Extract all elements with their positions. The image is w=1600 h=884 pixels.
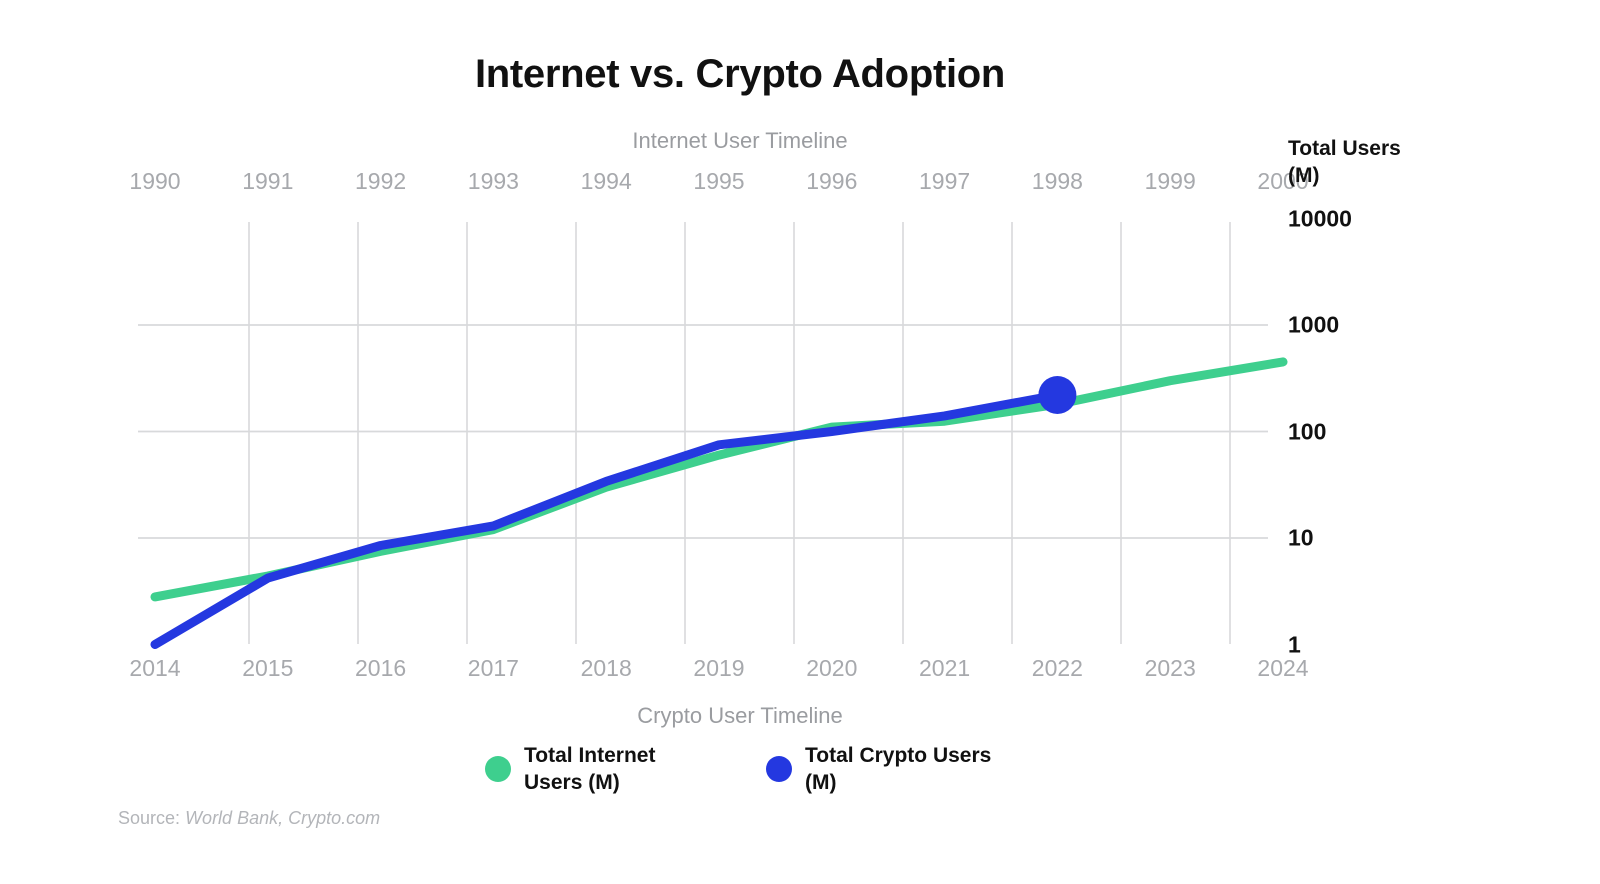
vertical-gridlines [249,222,1230,644]
y-axis-title-line-2: (M) [1288,163,1468,190]
y-tick-100: 100 [1288,418,1326,445]
bottom-tick-2018: 2018 [581,655,632,682]
y-tick-1: 1 [1288,631,1301,658]
legend-label-crypto: Total Crypto Users (M) [805,742,995,797]
legend-swatch-crypto-icon [766,756,792,782]
source-prefix: Source: [118,808,180,828]
legend-swatch-internet-icon [485,756,511,782]
legend-label-internet: Total Internet Users (M) [524,742,714,797]
bottom-tick-2019: 2019 [693,655,744,682]
horizontal-gridlines [138,325,1268,538]
y-axis-title-line-1: Total Users [1288,136,1468,163]
bottom-tick-2014: 2014 [129,655,180,682]
bottom-tick-2016: 2016 [355,655,406,682]
source-text: World Bank, Crypto.com [185,808,380,828]
legend-item-internet[interactable]: Total Internet Users (M) [485,742,714,797]
chart-legend: Total Internet Users (M)Total Crypto Use… [0,742,1480,797]
y-axis-title: Total Users(M) [1288,136,1468,190]
bottom-axis-caption: Crypto User Timeline [0,703,1480,729]
series-markers [1038,376,1076,414]
bottom-tick-2024: 2024 [1257,655,1308,682]
series-lines [155,362,1283,645]
bottom-tick-2022: 2022 [1032,655,1083,682]
y-tick-10000: 10000 [1288,205,1352,232]
bottom-axis-tick-row: 2014201520162017201820192020202120222023… [0,655,1600,687]
source-note: Source: World Bank, Crypto.com [118,808,380,829]
bottom-tick-2023: 2023 [1145,655,1196,682]
bottom-tick-2017: 2017 [468,655,519,682]
bottom-tick-2020: 2020 [806,655,857,682]
bottom-tick-2021: 2021 [919,655,970,682]
series-endpoint-marker-crypto [1038,376,1076,414]
chart-figure: Internet vs. Crypto Adoption Internet Us… [0,0,1600,884]
bottom-tick-2015: 2015 [242,655,293,682]
y-tick-10: 10 [1288,525,1314,552]
legend-item-crypto[interactable]: Total Crypto Users (M) [766,742,995,797]
y-tick-1000: 1000 [1288,312,1339,339]
series-line-crypto [155,395,1057,645]
